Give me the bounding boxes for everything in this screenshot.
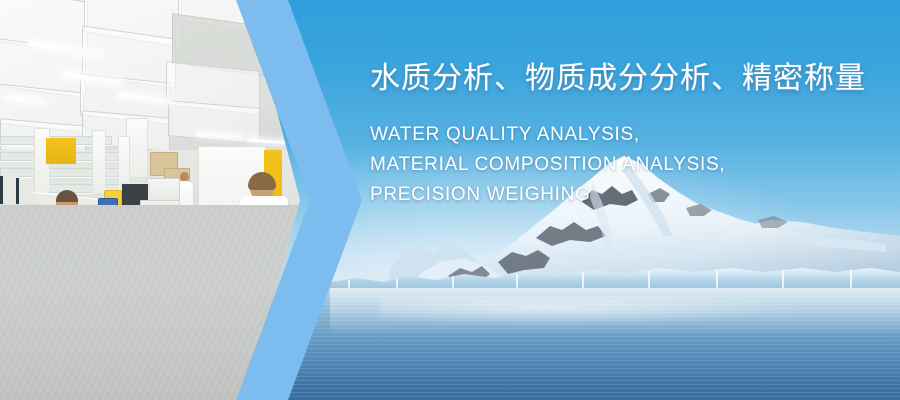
subtitle-line-1: WATER QUALITY ANALYSIS,: [370, 120, 890, 150]
banner-headline: 水质分析、物质成分分析、精密称量: [370, 60, 890, 98]
lab-yellow-accent: [46, 138, 76, 164]
lab-binder: [16, 178, 33, 204]
banner-subtitle: WATER QUALITY ANALYSIS, MATERIAL COMPOSI…: [370, 120, 890, 210]
shelf-upright: [92, 130, 106, 194]
subtitle-line-2: MATERIAL COMPOSITION ANALYSIS,: [370, 150, 890, 180]
banner-copy: 水质分析、物质成分分析、精密称量 WATER QUALITY ANALYSIS,…: [370, 60, 890, 210]
laboratory-photo: [0, 0, 300, 400]
hero-banner: 水质分析、物质成分分析、精密称量 WATER QUALITY ANALYSIS,…: [0, 0, 900, 400]
subtitle-line-3: PRECISION WEIGHING: [370, 180, 890, 210]
